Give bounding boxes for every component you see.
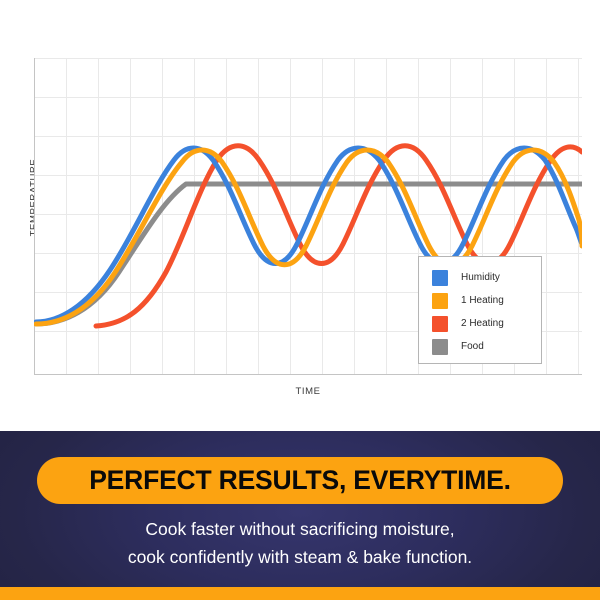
legend-item-label: 1 Heating bbox=[461, 295, 504, 306]
color-swatch-icon bbox=[432, 270, 448, 286]
temperature-chart-panel: TEMPERATURE bbox=[0, 0, 600, 431]
color-swatch-icon bbox=[432, 293, 448, 309]
promo-headline-text: PERFECT RESULTS, EVERYTIME. bbox=[89, 465, 511, 496]
color-swatch-icon bbox=[432, 339, 448, 355]
legend-item-label: 2 Heating bbox=[461, 318, 504, 329]
x-axis-title: TIME bbox=[34, 386, 582, 397]
legend-item-2-heating: 2 Heating bbox=[419, 312, 541, 335]
promo-subline-1: Cook faster without sacrificing moisture… bbox=[0, 519, 600, 540]
legend-item-label: Food bbox=[461, 341, 484, 352]
legend-item-1-heating: 1 Heating bbox=[419, 289, 541, 312]
color-swatch-icon bbox=[432, 316, 448, 332]
legend-item-label: Humidity bbox=[461, 272, 500, 283]
legend-item-food: Food bbox=[419, 335, 541, 358]
promo-subline-2: cook confidently with steam & bake funct… bbox=[0, 547, 600, 568]
legend-item-humidity: Humidity bbox=[419, 266, 541, 289]
chart-legend: Humidity 1 Heating 2 Heating Food bbox=[418, 256, 542, 364]
promo-headline-pill: PERFECT RESULTS, EVERYTIME. bbox=[37, 457, 563, 504]
promo-footer-accent-bar bbox=[0, 587, 600, 600]
